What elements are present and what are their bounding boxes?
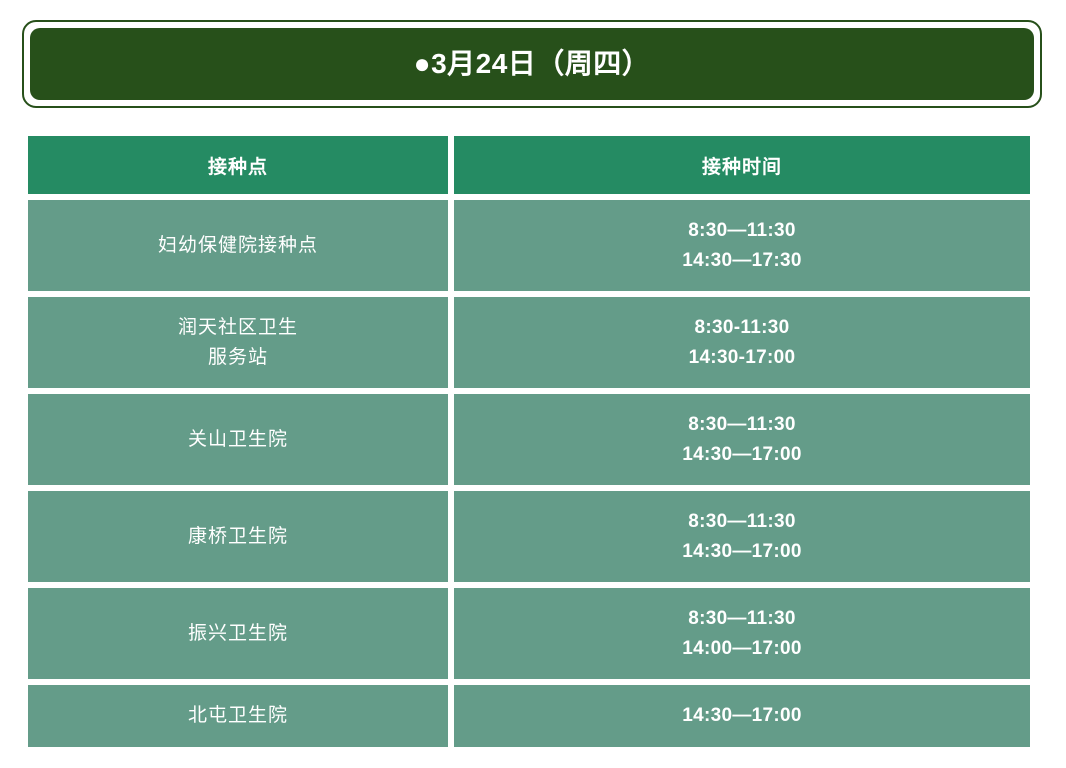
cell-site: 妇幼保健院接种点 <box>28 200 448 291</box>
time-line: 8:30—11:30 <box>688 410 796 439</box>
date-banner-title: ●3月24日（周四） <box>414 50 651 78</box>
table-row: 康桥卫生院 8:30—11:30 14:30—17:00 <box>28 491 1030 582</box>
cell-time: 8:30—11:30 14:30—17:00 <box>454 491 1030 582</box>
time-line: 14:30—17:00 <box>682 537 802 566</box>
time-line: 8:30—11:30 <box>688 507 796 536</box>
table-row: 润天社区卫生 服务站 8:30-11:30 14:30-17:00 <box>28 297 1030 388</box>
cell-site: 康桥卫生院 <box>28 491 448 582</box>
cell-time: 8:30—11:30 14:30—17:00 <box>454 394 1030 485</box>
site-line: 关山卫生院 <box>188 425 288 454</box>
time-line: 14:00—17:00 <box>682 634 802 663</box>
time-line: 14:30—17:00 <box>682 701 802 730</box>
time-line: 14:30-17:00 <box>689 343 796 372</box>
table-row: 关山卫生院 8:30—11:30 14:30—17:00 <box>28 394 1030 485</box>
cell-time: 8:30—11:30 14:30—17:30 <box>454 200 1030 291</box>
cell-time: 8:30—11:30 14:00—17:00 <box>454 588 1030 679</box>
vaccination-schedule-page: ●3月24日（周四） 接种点 接种时间 妇幼保健院接种点 8:30—11:30 … <box>0 0 1066 768</box>
date-banner-inner: ●3月24日（周四） <box>30 28 1034 100</box>
site-line: 康桥卫生院 <box>188 522 288 551</box>
table-row: 妇幼保健院接种点 8:30—11:30 14:30—17:30 <box>28 200 1030 291</box>
site-line: 润天社区卫生 <box>178 313 298 342</box>
date-banner: ●3月24日（周四） <box>22 20 1042 108</box>
time-line: 14:30—17:00 <box>682 440 802 469</box>
time-line: 8:30—11:30 <box>688 216 796 245</box>
site-line: 北屯卫生院 <box>188 701 288 730</box>
cell-site: 关山卫生院 <box>28 394 448 485</box>
time-line: 8:30-11:30 <box>695 313 790 342</box>
column-header-site: 接种点 <box>28 136 448 194</box>
column-header-time: 接种时间 <box>454 136 1030 194</box>
table-row: 北屯卫生院 14:30—17:00 <box>28 685 1030 747</box>
cell-site: 润天社区卫生 服务站 <box>28 297 448 388</box>
time-line: 8:30—11:30 <box>688 604 796 633</box>
table-row: 振兴卫生院 8:30—11:30 14:00—17:00 <box>28 588 1030 679</box>
schedule-table: 接种点 接种时间 妇幼保健院接种点 8:30—11:30 14:30—17:30… <box>28 136 1030 747</box>
cell-site: 振兴卫生院 <box>28 588 448 679</box>
table-header-row: 接种点 接种时间 <box>28 136 1030 194</box>
site-line: 服务站 <box>208 343 268 372</box>
cell-time: 8:30-11:30 14:30-17:00 <box>454 297 1030 388</box>
time-line: 14:30—17:30 <box>682 246 802 275</box>
site-line: 振兴卫生院 <box>188 619 288 648</box>
cell-site: 北屯卫生院 <box>28 685 448 747</box>
cell-time: 14:30—17:00 <box>454 685 1030 747</box>
site-line: 妇幼保健院接种点 <box>158 231 318 260</box>
